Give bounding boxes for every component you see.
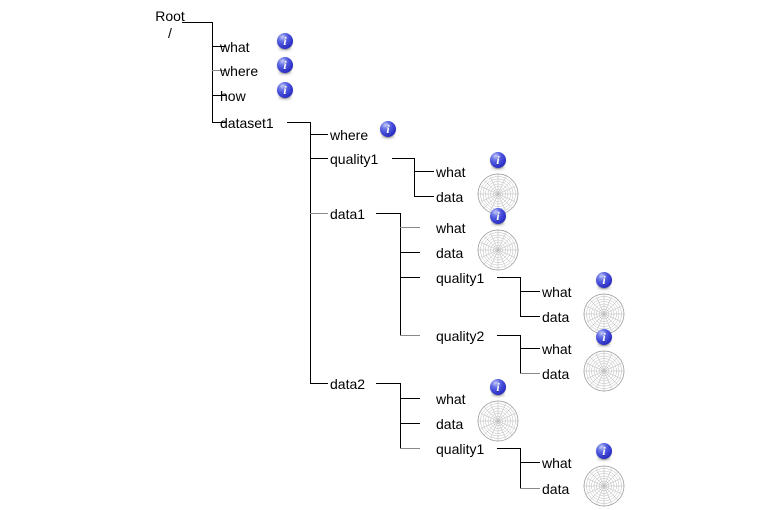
tree-node-where-dataset1[interactable]: where xyxy=(330,128,368,142)
tree-node-data-data2[interactable]: data xyxy=(436,417,463,431)
tree-node-how-root[interactable]: how xyxy=(220,89,246,103)
info-icon-glyph: i xyxy=(380,121,396,137)
info-icon[interactable]: i xyxy=(277,82,293,98)
edge-to-data-data1 xyxy=(400,252,420,253)
node-label: what xyxy=(542,341,572,357)
edge-trunk-quality2-data1 xyxy=(520,335,521,374)
tree-canvas: Root / what i where i how i dataset1 xyxy=(0,0,780,510)
edge-dataset1-stem xyxy=(287,122,311,123)
info-icon[interactable]: i xyxy=(490,379,506,395)
tree-node-data-quality1-dataset1[interactable]: data xyxy=(436,190,463,204)
info-icon-glyph: i xyxy=(490,208,506,224)
node-label: what xyxy=(220,39,250,55)
node-label: data xyxy=(542,309,569,325)
info-icon[interactable]: i xyxy=(277,57,293,73)
tree-node-data2[interactable]: data2 xyxy=(330,377,365,391)
info-icon[interactable]: i xyxy=(490,208,506,224)
tree-node-what-quality1-data2[interactable]: what xyxy=(542,456,572,470)
polar-plot-thumbnail[interactable] xyxy=(582,349,626,393)
node-label: what xyxy=(436,164,466,180)
edge-to-data-data2 xyxy=(400,423,420,424)
edge-trunk-level1 xyxy=(212,22,213,122)
edge-data2-stem xyxy=(376,383,400,384)
node-label: data xyxy=(542,481,569,497)
node-label: what xyxy=(436,220,466,236)
edge-data1-stem xyxy=(376,213,400,214)
edge-trunk-dataset1 xyxy=(310,122,311,383)
tree-node-quality2-data1[interactable]: quality2 xyxy=(436,329,484,343)
edge-trunk-quality1-data2 xyxy=(520,448,521,489)
tree-node-what-data2[interactable]: what xyxy=(436,392,466,406)
node-label: where xyxy=(220,63,258,79)
info-icon[interactable]: i xyxy=(596,272,612,288)
node-label: where xyxy=(330,127,368,143)
node-label: quality2 xyxy=(436,328,484,344)
edge-quality2-data1-stem xyxy=(497,335,520,336)
node-label: data xyxy=(542,366,569,382)
tree-node-what-quality1-dataset1[interactable]: what xyxy=(436,165,466,179)
edge-trunk-data1 xyxy=(400,213,401,335)
tree-node-quality1-data1[interactable]: quality1 xyxy=(436,271,484,285)
node-label: what xyxy=(542,284,572,300)
edge-to-data-q1d1 xyxy=(520,316,540,317)
info-icon-glyph: i xyxy=(277,57,293,73)
tree-node-what-quality1-data1[interactable]: what xyxy=(542,285,572,299)
edge-to-quality1-ds1 xyxy=(310,158,328,159)
tree-node-dataset1[interactable]: dataset1 xyxy=(220,116,274,130)
polar-plot-thumbnail[interactable] xyxy=(582,464,626,508)
edge-to-what-q1d2 xyxy=(520,462,540,463)
node-label: data xyxy=(436,189,463,205)
info-icon-glyph: i xyxy=(596,443,612,459)
edge-to-data-q2d1 xyxy=(520,373,540,374)
info-icon-glyph: i xyxy=(490,152,506,168)
info-icon[interactable]: i xyxy=(277,33,293,49)
polar-plot-thumbnail[interactable] xyxy=(476,228,520,272)
tree-node-data1[interactable]: data1 xyxy=(330,207,365,221)
edge-to-quality2-data1 xyxy=(400,335,420,336)
info-icon-glyph: i xyxy=(277,33,293,49)
edge-root-stem xyxy=(182,22,213,23)
info-icon[interactable]: i xyxy=(596,443,612,459)
node-label: dataset1 xyxy=(220,115,274,131)
edge-to-data1 xyxy=(310,213,328,214)
root-path-label: / xyxy=(142,25,198,42)
edge-trunk-quality1-data1 xyxy=(520,277,521,316)
info-icon-glyph: i xyxy=(490,379,506,395)
edge-trunk-data2 xyxy=(400,383,401,448)
node-label: quality1 xyxy=(436,441,484,457)
edge-to-what-data2 xyxy=(400,398,420,399)
edge-to-quality1-data2 xyxy=(400,448,420,449)
info-icon[interactable]: i xyxy=(596,329,612,345)
edge-trunk-quality1-ds1 xyxy=(414,158,415,197)
tree-node-quality1-data2[interactable]: quality1 xyxy=(436,442,484,456)
tree-node-data-quality1-data2[interactable]: data xyxy=(542,482,569,496)
tree-node-quality1-dataset1[interactable]: quality1 xyxy=(330,152,378,166)
node-label: data xyxy=(436,245,463,261)
node-label: quality1 xyxy=(330,151,378,167)
tree-node-root[interactable]: Root / xyxy=(142,8,198,42)
info-icon[interactable]: i xyxy=(380,121,396,137)
edge-to-quality1-data1 xyxy=(400,277,420,278)
edge-quality1-data2-stem xyxy=(497,448,520,449)
tree-node-what-data1[interactable]: what xyxy=(436,221,466,235)
node-label: how xyxy=(220,88,246,104)
polar-plot-thumbnail[interactable] xyxy=(476,399,520,443)
edge-to-what-q1d1 xyxy=(520,291,540,292)
node-label: data1 xyxy=(330,206,365,222)
tree-node-where-root[interactable]: where xyxy=(220,64,258,78)
tree-node-what-quality2-data1[interactable]: what xyxy=(542,342,572,356)
tree-node-data-quality1-data1[interactable]: data xyxy=(542,310,569,324)
node-label: data2 xyxy=(330,376,365,392)
tree-node-data-quality2-data1[interactable]: data xyxy=(542,367,569,381)
edge-to-data2 xyxy=(310,383,328,384)
node-label: what xyxy=(436,391,466,407)
node-label: data xyxy=(436,416,463,432)
node-label: quality1 xyxy=(436,270,484,286)
edge-quality1-data1-stem xyxy=(497,277,520,278)
edge-to-where-ds1 xyxy=(310,134,328,135)
info-icon-glyph: i xyxy=(596,329,612,345)
edge-to-what-data1 xyxy=(400,227,420,228)
tree-node-what-root[interactable]: what xyxy=(220,40,250,54)
edge-to-data-q1d2 xyxy=(520,488,540,489)
tree-node-data-data1[interactable]: data xyxy=(436,246,463,260)
edge-to-what-q2d1 xyxy=(520,348,540,349)
edge-quality1-ds1-stem xyxy=(392,158,414,159)
info-icon-glyph: i xyxy=(596,272,612,288)
edge-to-what-q1ds1 xyxy=(414,171,434,172)
node-label: what xyxy=(542,455,572,471)
info-icon[interactable]: i xyxy=(490,152,506,168)
info-icon-glyph: i xyxy=(277,82,293,98)
edge-to-data-q1ds1 xyxy=(414,196,434,197)
